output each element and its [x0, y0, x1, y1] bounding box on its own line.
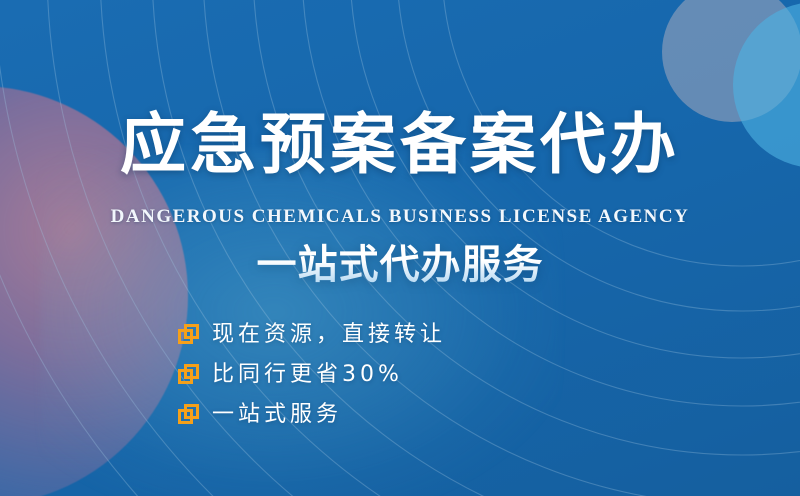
overlapping-squares-icon [178, 364, 200, 386]
overlapping-squares-icon [178, 324, 200, 346]
overlapping-squares-icon [178, 404, 200, 426]
feature-list: 现在资源，直接转让 比同行更省30% 一站式服务 [178, 316, 446, 436]
title-secondary: 一站式代办服务 [0, 243, 800, 287]
list-item: 一站式服务 [178, 396, 446, 434]
title-english-subtitle: DANGEROUS CHEMICALS BUSINESS LICENSE AGE… [0, 206, 800, 228]
list-item-label: 一站式服务 [212, 404, 342, 426]
list-item: 现在资源，直接转让 [178, 316, 446, 354]
list-item-label: 比同行更省30% [212, 364, 403, 386]
list-item-label: 现在资源，直接转让 [212, 324, 446, 346]
promo-banner: 应急预案备案代办 DANGEROUS CHEMICALS BUSINESS LI… [0, 0, 800, 496]
list-item: 比同行更省30% [178, 356, 446, 394]
banner-content: 应急预案备案代办 DANGEROUS CHEMICALS BUSINESS LI… [0, 0, 800, 496]
page-title: 应急预案备案代办 [0, 112, 800, 178]
